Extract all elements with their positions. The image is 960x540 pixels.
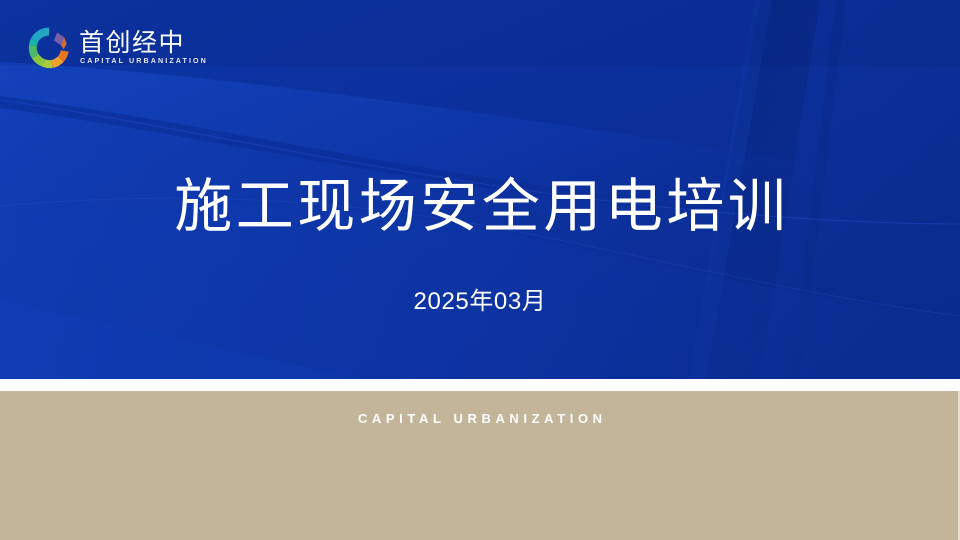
brand-wordmark: 首创经中 CAPITAL URBANIZATION: [79, 29, 205, 67]
footer-band: CAPITAL URBANIZATION: [0, 391, 960, 540]
title-slide: 首创经中 CAPITAL URBANIZATION 施工现场安全用电培训 202…: [0, 0, 960, 540]
footer-brand-text: CAPITAL URBANIZATION: [0, 410, 960, 428]
slide-title: 施工现场安全用电培训: [0, 168, 960, 246]
capital-urbanization-ring-logo-icon: [28, 27, 70, 69]
slide-subtitle-date: 2025年03月: [0, 286, 960, 318]
brand-name-cn: 首创经中: [79, 30, 205, 57]
title-block: 施工现场安全用电培训: [0, 168, 960, 246]
divider-gap: [0, 379, 960, 391]
brand-name-en: CAPITAL URBANIZATION: [79, 57, 208, 67]
brand-logo-lockup: 首创经中 CAPITAL URBANIZATION: [28, 24, 208, 72]
hero-panel: 首创经中 CAPITAL URBANIZATION 施工现场安全用电培训 202…: [0, 0, 960, 379]
